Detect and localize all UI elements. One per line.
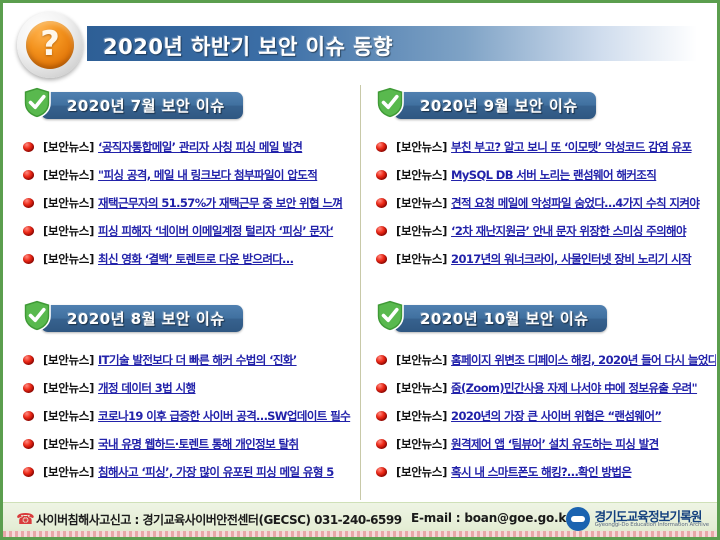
poster-footer: ☎ 사이버침해사고신고 : 경기교육사이버안전센터(GECSC) 031-240… xyxy=(3,502,717,537)
red-bullet-icon xyxy=(376,467,387,477)
news-source-tag: [보안뉴스] xyxy=(396,436,447,452)
section-september-list: [보안뉴스] 부친 부고? 알고 보니 또 ‘이모텟’ 악성코드 감염 유포 [… xyxy=(366,133,716,273)
section-october: 2020년 10월 보안 이슈 [보안뉴스] 홈페이지 위변조 디페이스 해킹,… xyxy=(366,298,716,486)
footer-email-text[interactable]: E-mail : boan@goe.go.kr xyxy=(411,511,572,525)
news-source-tag: [보안뉴스] xyxy=(396,408,447,424)
poster-page: ? 2020년 하반기 보안 이슈 동향 2020년 7월 보안 이슈 xyxy=(0,0,720,540)
list-item[interactable]: [보안뉴스] 재택근무자의 51.57%가 재택근무 중 보안 위협 느껴 xyxy=(13,189,363,217)
red-bullet-icon xyxy=(23,383,34,393)
news-headline[interactable]: ‘공직자통합메일’ 관리자 사칭 피싱 메일 발견 xyxy=(98,139,302,155)
list-item[interactable]: [보안뉴스] 최신 영화 ‘결백’ 토렌트로 다운 받으려다… xyxy=(13,245,363,273)
news-headline[interactable]: 재택근무자의 51.57%가 재택근무 중 보안 위협 느껴 xyxy=(98,195,342,211)
section-september: 2020년 9월 보안 이슈 [보안뉴스] 부친 부고? 알고 보니 또 ‘이모… xyxy=(366,85,716,273)
content-area: 2020년 7월 보안 이슈 [보안뉴스] ‘공직자통합메일’ 관리자 사칭 피… xyxy=(3,81,717,503)
gyeonggi-archive-logo-icon: 경기도교육정보기록원 Gyeonggi-Do Education Informa… xyxy=(566,507,709,531)
list-item[interactable]: [보안뉴스] 코로나19 이후 급증한 사이버 공격…SW업데이트 필수 xyxy=(13,402,363,430)
section-october-title: 2020년 10월 보안 이슈 xyxy=(420,308,589,329)
logo-title: 경기도교육정보기록원 xyxy=(595,510,709,523)
news-source-tag: [보안뉴스] xyxy=(43,167,94,183)
news-source-tag: [보안뉴스] xyxy=(43,195,94,211)
news-source-tag: [보안뉴스] xyxy=(43,464,94,480)
news-headline[interactable]: 혹시 내 스마트폰도 해킹?…확인 방법은 xyxy=(451,464,631,480)
news-headline[interactable]: 견적 요청 메일에 악성파일 숨었다…4가지 수칙 지켜야 xyxy=(451,195,699,211)
list-item[interactable]: [보안뉴스] 2020년의 가장 큰 사이버 위협은 “랜섬웨어” xyxy=(366,402,716,430)
footer-contact-text: 사이버침해사고신고 : 경기교육사이버안전센터(GECSC) 031-240-6… xyxy=(36,511,402,528)
list-item[interactable]: [보안뉴스] 줌(Zoom)민간사용 자제 나서야 中에 정보유출 우려" xyxy=(366,374,716,402)
list-item[interactable]: [보안뉴스] MySQL DB 서버 노리는 랜섬웨어 해커조직 xyxy=(366,161,716,189)
section-august: 2020년 8월 보안 이슈 [보안뉴스] IT기술 발전보다 더 빠른 해커 … xyxy=(13,298,363,486)
section-october-header: 2020년 10월 보안 이슈 xyxy=(366,298,716,338)
news-source-tag: [보안뉴스] xyxy=(396,464,447,480)
news-source-tag: [보안뉴스] xyxy=(43,251,94,267)
list-item[interactable]: [보안뉴스] ‘2차 재난지원금’ 안내 문자 위장한 스미싱 주의해야 xyxy=(366,217,716,245)
news-headline[interactable]: ‘2차 재난지원금’ 안내 문자 위장한 스미싱 주의해야 xyxy=(451,223,686,239)
list-item[interactable]: [보안뉴스] 홈페이지 위변조 디페이스 해킹, 2020년 들어 다시 늘었다 xyxy=(366,346,716,374)
news-source-tag: [보안뉴스] xyxy=(396,223,447,239)
page-title: 2020년 하반기 보안 이슈 동향 xyxy=(103,31,393,61)
red-bullet-icon xyxy=(376,411,387,421)
red-bullet-icon xyxy=(23,254,34,264)
news-headline[interactable]: 국내 유명 웹하드·토렌트 통해 개인정보 탈취 xyxy=(98,436,298,452)
list-item[interactable]: [보안뉴스] 국내 유명 웹하드·토렌트 통해 개인정보 탈취 xyxy=(13,430,363,458)
red-bullet-icon xyxy=(23,439,34,449)
logo-subtitle: Gyeonggi-Do Education Information Archiv… xyxy=(595,523,709,529)
question-mark-circle-inner: ? xyxy=(26,21,74,69)
news-source-tag: [보안뉴스] xyxy=(43,139,94,155)
news-headline[interactable]: 2020년의 가장 큰 사이버 위협은 “랜섬웨어” xyxy=(451,408,661,424)
section-august-header: 2020년 8월 보안 이슈 xyxy=(13,298,363,338)
question-mark-glyph: ? xyxy=(26,21,74,69)
green-shield-check-icon xyxy=(375,299,405,332)
section-july-header: 2020년 7월 보안 이슈 xyxy=(13,85,363,125)
section-september-title: 2020년 9월 보안 이슈 xyxy=(420,95,578,116)
news-headline[interactable]: 최신 영화 ‘결백’ 토렌트로 다운 받으려다… xyxy=(98,251,293,267)
red-bullet-icon xyxy=(376,355,387,365)
red-bullet-icon xyxy=(23,411,34,421)
red-bullet-icon xyxy=(23,226,34,236)
red-bullet-icon xyxy=(376,226,387,236)
red-bullet-icon xyxy=(23,467,34,477)
section-july-badge: 2020년 7월 보안 이슈 xyxy=(41,92,243,119)
list-item[interactable]: [보안뉴스] 견적 요청 메일에 악성파일 숨었다…4가지 수칙 지켜야 xyxy=(366,189,716,217)
section-october-badge: 2020년 10월 보안 이슈 xyxy=(394,305,607,332)
section-september-badge: 2020년 9월 보안 이슈 xyxy=(394,92,596,119)
list-item[interactable]: [보안뉴스] 부친 부고? 알고 보니 또 ‘이모텟’ 악성코드 감염 유포 xyxy=(366,133,716,161)
section-august-badge: 2020년 8월 보안 이슈 xyxy=(41,305,243,332)
news-source-tag: [보안뉴스] xyxy=(396,251,447,267)
question-mark-circle-icon: ? xyxy=(17,12,83,78)
red-bullet-icon xyxy=(376,142,387,152)
news-headline[interactable]: 피싱 피해자 ‘네이버 이메일계정 털리자 ‘피싱’ 문자‘ xyxy=(98,223,333,239)
news-headline[interactable]: 침해사고 ‘피싱’, 가장 많이 유포된 피싱 메일 유형 5 xyxy=(98,464,334,480)
section-july-title: 2020년 7월 보안 이슈 xyxy=(67,95,225,116)
news-headline[interactable]: MySQL DB 서버 노리는 랜섬웨어 해커조직 xyxy=(451,167,656,183)
list-item[interactable]: [보안뉴스] 침해사고 ‘피싱’, 가장 많이 유포된 피싱 메일 유형 5 xyxy=(13,458,363,486)
green-shield-check-icon xyxy=(22,86,52,119)
red-bullet-icon xyxy=(23,170,34,180)
section-july: 2020년 7월 보안 이슈 [보안뉴스] ‘공직자통합메일’ 관리자 사칭 피… xyxy=(13,85,363,273)
news-source-tag: [보안뉴스] xyxy=(396,139,447,155)
news-source-tag: [보안뉴스] xyxy=(43,352,94,368)
news-source-tag: [보안뉴스] xyxy=(396,380,447,396)
section-october-list: [보안뉴스] 홈페이지 위변조 디페이스 해킹, 2020년 들어 다시 늘었다… xyxy=(366,346,716,486)
list-item[interactable]: [보안뉴스] "피싱 공격, 메일 내 링크보다 첨부파일이 압도적 xyxy=(13,161,363,189)
list-item[interactable]: [보안뉴스] 피싱 피해자 ‘네이버 이메일계정 털리자 ‘피싱’ 문자‘ xyxy=(13,217,363,245)
news-headline[interactable]: 코로나19 이후 급증한 사이버 공격…SW업데이트 필수 xyxy=(98,408,350,424)
news-source-tag: [보안뉴스] xyxy=(43,380,94,396)
news-headline[interactable]: IT기술 발전보다 더 빠른 해커 수법의 ‘진화’ xyxy=(98,352,297,368)
section-august-list: [보안뉴스] IT기술 발전보다 더 빠른 해커 수법의 ‘진화’ [보안뉴스]… xyxy=(13,346,363,486)
list-item[interactable]: [보안뉴스] ‘공직자통합메일’ 관리자 사칭 피싱 메일 발견 xyxy=(13,133,363,161)
red-bullet-icon xyxy=(376,383,387,393)
list-item[interactable]: [보안뉴스] 개정 데이터 3법 시행 xyxy=(13,374,363,402)
logo-text-block: 경기도교육정보기록원 Gyeonggi-Do Education Informa… xyxy=(595,510,709,529)
news-headline[interactable]: 홈페이지 위변조 디페이스 해킹, 2020년 들어 다시 늘었다 xyxy=(451,352,716,368)
news-source-tag: [보안뉴스] xyxy=(43,223,94,239)
section-september-header: 2020년 9월 보안 이슈 xyxy=(366,85,716,125)
red-bullet-icon xyxy=(23,142,34,152)
green-shield-check-icon xyxy=(375,86,405,119)
title-bar: 2020년 하반기 보안 이슈 동향 xyxy=(87,26,697,61)
red-bullet-icon xyxy=(23,355,34,365)
news-headline[interactable]: 부친 부고? 알고 보니 또 ‘이모텟’ 악성코드 감염 유포 xyxy=(451,139,691,155)
logo-mark-icon xyxy=(566,507,590,531)
news-source-tag: [보안뉴스] xyxy=(43,408,94,424)
red-bullet-icon xyxy=(376,170,387,180)
news-source-tag: [보안뉴스] xyxy=(396,352,447,368)
news-headline[interactable]: 줌(Zoom)민간사용 자제 나서야 中에 정보유출 우려" xyxy=(451,380,697,396)
green-shield-check-icon xyxy=(22,299,52,332)
news-source-tag: [보안뉴스] xyxy=(396,167,447,183)
section-july-list: [보안뉴스] ‘공직자통합메일’ 관리자 사칭 피싱 메일 발견 [보안뉴스] … xyxy=(13,133,363,273)
red-bullet-icon xyxy=(376,254,387,264)
list-item[interactable]: [보안뉴스] 원격제어 앱 ‘팀뷰어’ 설치 유도하는 피싱 발견 xyxy=(366,430,716,458)
list-item[interactable]: [보안뉴스] 2017년의 워너크라이, 사물인터넷 장비 노리기 시작 xyxy=(366,245,716,273)
news-headline[interactable]: "피싱 공격, 메일 내 링크보다 첨부파일이 압도적 xyxy=(98,167,317,183)
news-headline[interactable]: 2017년의 워너크라이, 사물인터넷 장비 노리기 시작 xyxy=(451,251,691,267)
list-item[interactable]: [보안뉴스] 혹시 내 스마트폰도 해킹?…확인 방법은 xyxy=(366,458,716,486)
news-headline[interactable]: 개정 데이터 3법 시행 xyxy=(98,380,195,396)
news-source-tag: [보안뉴스] xyxy=(396,195,447,211)
telephone-icon: ☎ xyxy=(16,510,35,528)
poster-header: ? 2020년 하반기 보안 이슈 동향 xyxy=(3,3,717,81)
news-source-tag: [보안뉴스] xyxy=(43,436,94,452)
red-bullet-icon xyxy=(376,198,387,208)
news-headline[interactable]: 원격제어 앱 ‘팀뷰어’ 설치 유도하는 피싱 발견 xyxy=(451,436,659,452)
red-bullet-icon xyxy=(23,198,34,208)
footer-stripe xyxy=(3,531,717,537)
red-bullet-icon xyxy=(376,439,387,449)
list-item[interactable]: [보안뉴스] IT기술 발전보다 더 빠른 해커 수법의 ‘진화’ xyxy=(13,346,363,374)
section-august-title: 2020년 8월 보안 이슈 xyxy=(67,308,225,329)
